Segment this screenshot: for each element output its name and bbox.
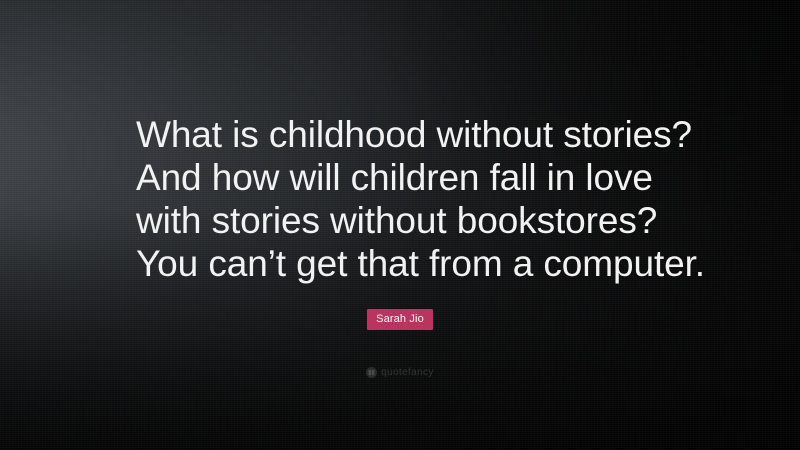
quote-image-canvas: What is childhood without stories? And h… [0,0,800,450]
author-attribution: Sarah Jio [0,309,800,330]
author-name-badge[interactable]: Sarah Jio [367,309,433,330]
quote-line-1: What is childhood without stories? [136,113,696,156]
watermark[interactable]: quotefancy [0,367,800,378]
quotefancy-logo-icon [366,367,377,378]
watermark-brand-label: quotefancy [381,368,433,378]
quote-line-4: You can’t get that from a computer. [136,242,696,285]
content-layer: What is childhood without stories? And h… [0,0,800,450]
quote-line-3: with stories without bookstores? [136,199,696,242]
quote-line-2: And how will children fall in love [136,156,696,199]
quote-text: What is childhood without stories? And h… [136,113,696,285]
